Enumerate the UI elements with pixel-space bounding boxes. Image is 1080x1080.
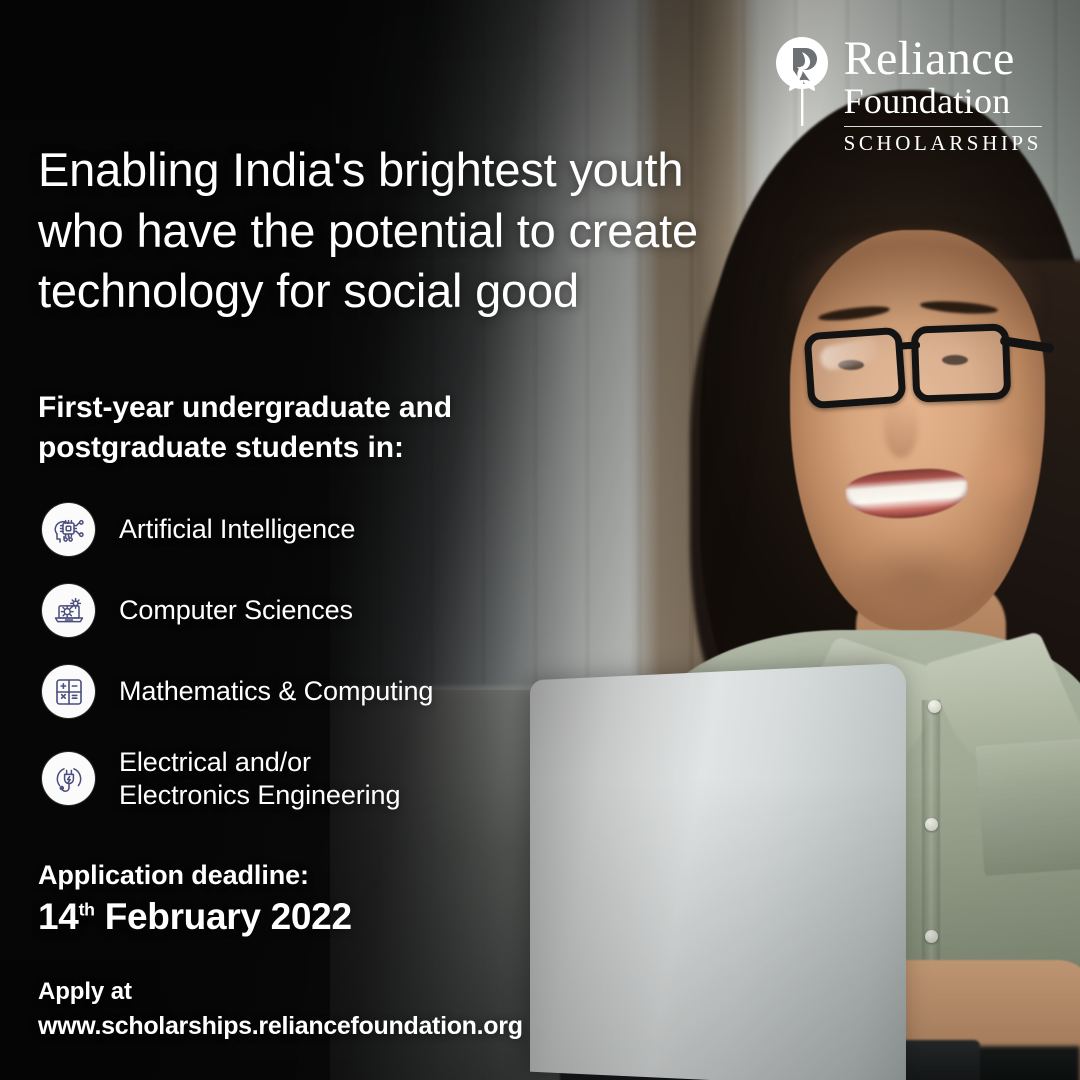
deadline-label: Application deadline: (38, 860, 352, 891)
logo-line-foundation: Foundation (844, 82, 1042, 123)
logo-line-reliance: Reliance (844, 36, 1042, 82)
headline: Enabling India's brightest youth who hav… (38, 140, 698, 322)
reliance-foundation-scholarships-logo: Reliance Foundation SCHOLARSHIPS (773, 36, 1042, 156)
logo-divider (844, 126, 1042, 127)
calculator-icon (42, 665, 95, 718)
list-item-label: Artificial Intelligence (119, 513, 355, 546)
subheading: First-year undergraduate and postgraduat… (38, 388, 598, 468)
list-item-label-line2: Electronics Engineering (119, 779, 400, 812)
poster-content: Reliance Foundation SCHOLARSHIPS Enablin… (0, 0, 1080, 1080)
list-item: Electrical and/or Electronics Engineerin… (42, 746, 662, 812)
list-item: Computer Sciences (42, 584, 662, 637)
list-item: Mathematics & Computing (42, 665, 662, 718)
list-item-label: Electrical and/or Electronics Engineerin… (119, 746, 400, 812)
deadline-month-year: February 2022 (95, 896, 352, 937)
reliance-r-monogram-icon (773, 36, 831, 128)
logo-wordmark: Reliance Foundation SCHOLARSHIPS (844, 36, 1042, 156)
laptop-gears-icon (42, 584, 95, 637)
deadline-day: 14 (38, 896, 79, 937)
eligible-fields-list: Artificial Intelligence Computer Science… (42, 503, 662, 812)
deadline-date: 14th February 2022 (38, 896, 352, 938)
apply-block: Apply at www.scholarships.reliancefounda… (38, 978, 523, 1041)
list-item: Artificial Intelligence (42, 503, 662, 556)
list-item-label: Computer Sciences (119, 594, 353, 627)
list-item-label: Mathematics & Computing (119, 675, 433, 708)
list-item-label-line1: Electrical and/or (119, 747, 311, 777)
application-deadline: Application deadline: 14th February 2022 (38, 860, 352, 938)
power-plug-icon (42, 752, 95, 805)
apply-url[interactable]: www.scholarships.reliancefoundation.org (38, 1012, 523, 1041)
logo-line-scholarships: SCHOLARSHIPS (844, 131, 1042, 156)
poster-canvas: Reliance Foundation SCHOLARSHIPS Enablin… (0, 0, 1080, 1080)
deadline-ordinal: th (79, 900, 95, 920)
apply-label: Apply at (38, 978, 523, 1006)
ai-brain-chip-icon (42, 503, 95, 556)
